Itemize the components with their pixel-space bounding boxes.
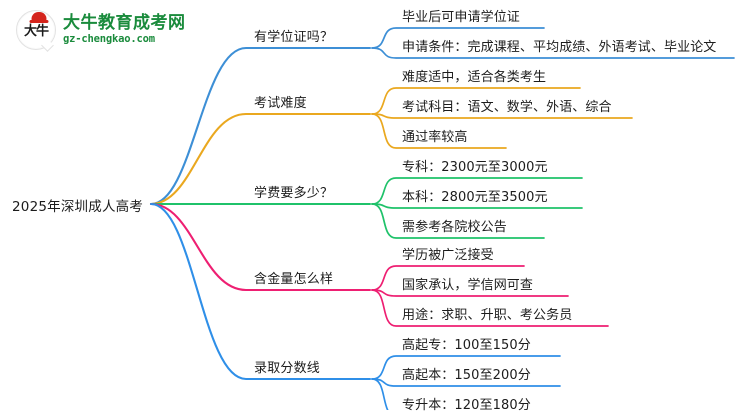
logo-text-block: 大牛教育成考网 gz-chengkao.com xyxy=(63,14,186,46)
branch-label-1[interactable]: 考试难度 xyxy=(254,92,307,111)
leaf-label-2-1[interactable]: 本科：2800元至3500元 xyxy=(402,186,548,205)
branch-label-2[interactable]: 学费要多少？ xyxy=(254,182,333,201)
mindmap-canvas: 大牛 大牛教育成考网 gz-chengkao.com 2025年深圳成人高考 有… xyxy=(0,0,750,410)
leaf-label-3-0[interactable]: 学历被广泛接受 xyxy=(402,244,494,263)
leaf-label-0-0[interactable]: 毕业后可申请学位证 xyxy=(402,6,520,25)
logo-mark-text: 大牛 xyxy=(24,27,48,37)
logo-cap-shape xyxy=(32,12,47,21)
leaf-label-2-2[interactable]: 需参考各院校公告 xyxy=(402,216,507,235)
leaf-label-4-1[interactable]: 高起本：150至200分 xyxy=(402,364,531,383)
logo-bubble-tail xyxy=(41,39,54,52)
leaf-label-1-1[interactable]: 考试科目：语文、数学、外语、综合 xyxy=(402,96,612,115)
logo-subtitle: gz-chengkao.com xyxy=(63,33,186,46)
leaf-label-1-2[interactable]: 通过率较高 xyxy=(402,126,468,145)
branch-label-3[interactable]: 含金量怎么样 xyxy=(254,268,333,287)
branch-label-0[interactable]: 有学位证吗？ xyxy=(254,26,333,45)
leaf-label-3-1[interactable]: 国家承认，学信网可查 xyxy=(402,274,533,293)
logo-title: 大牛教育成考网 xyxy=(63,14,186,33)
branch-label-4[interactable]: 录取分数线 xyxy=(254,357,320,376)
site-logo: 大牛 大牛教育成考网 gz-chengkao.com xyxy=(16,10,186,50)
root-node[interactable]: 2025年深圳成人高考 xyxy=(12,195,143,215)
leaf-label-2-0[interactable]: 专科：2300元至3000元 xyxy=(402,156,548,175)
branch-curve-0 xyxy=(151,48,370,204)
leaf-label-1-0[interactable]: 难度适中，适合各类考生 xyxy=(402,66,546,85)
branch-curve-4 xyxy=(151,204,370,379)
leaf-label-4-0[interactable]: 高起专：100至150分 xyxy=(402,334,531,353)
leaf-label-3-2[interactable]: 用途：求职、升职、考公务员 xyxy=(402,304,572,323)
logo-mark-icon: 大牛 xyxy=(16,10,56,50)
leaf-label-0-1[interactable]: 申请条件：完成课程、平均成绩、外语考试、毕业论文 xyxy=(402,36,716,55)
leaf-label-4-2[interactable]: 专升本：120至180分 xyxy=(402,394,531,413)
